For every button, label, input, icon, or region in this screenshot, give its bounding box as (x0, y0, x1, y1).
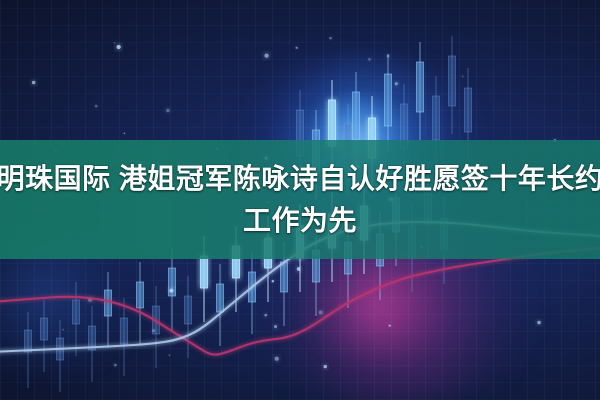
headline-line-2: 工作为先 (243, 201, 357, 241)
headline-line-1: 明珠国际 港姐冠军陈咏诗自认好胜愿签十年长约 (0, 159, 600, 199)
headline-band: 明珠国际 港姐冠军陈咏诗自认好胜愿签十年长约 工作为先 (0, 140, 600, 259)
news-thumbnail: 明珠国际 港姐冠军陈咏诗自认好胜愿签十年长约 工作为先 (0, 0, 600, 400)
